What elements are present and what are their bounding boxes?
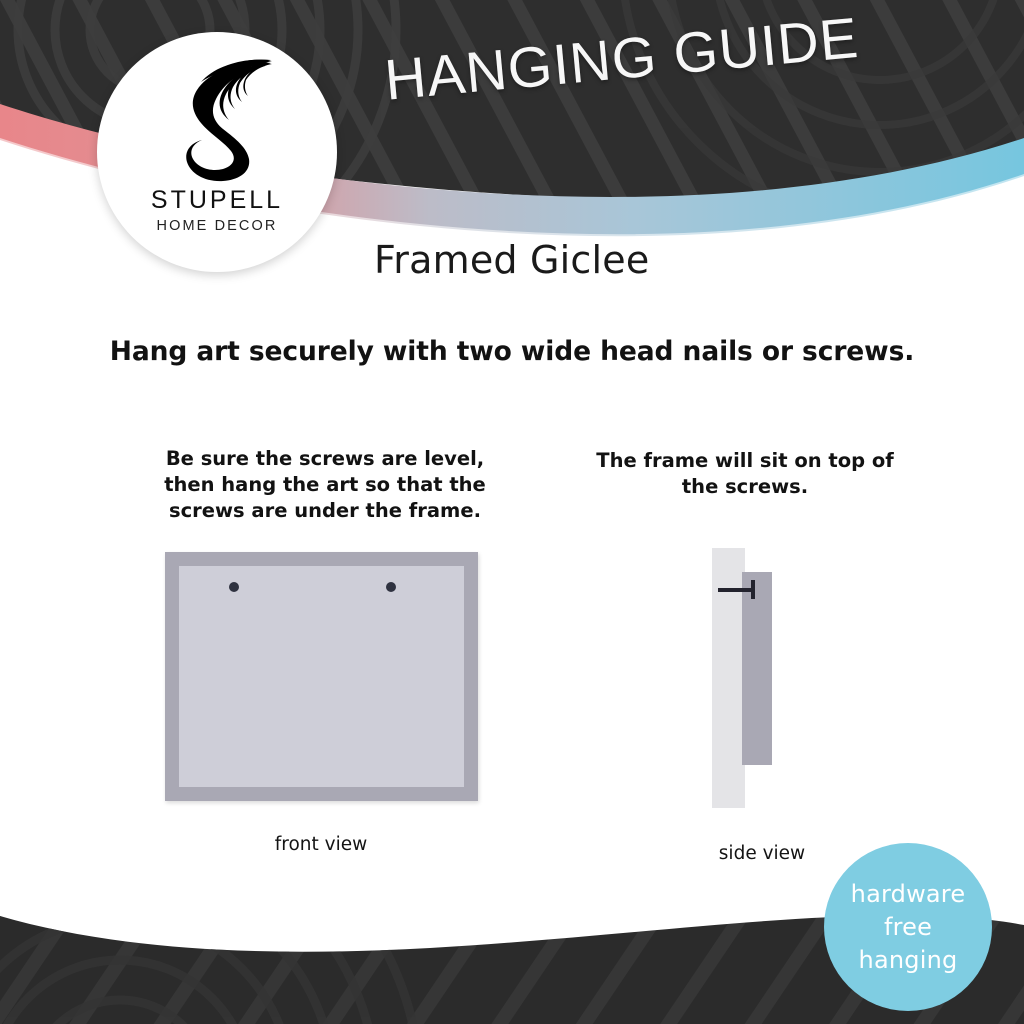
front-view-caption: Be sure the screws are level, then hang …	[140, 446, 510, 524]
screw-dot-right-icon	[386, 582, 396, 592]
brand-logo-badge: STUPELL HOME DECOR	[97, 32, 337, 272]
badge-line-3: hanging	[859, 944, 958, 977]
hardware-free-hanging-badge: hardware free hanging	[824, 843, 992, 1011]
side-view-caption: The frame will sit on top of the screws.	[590, 448, 900, 500]
page-title: HANGING GUIDE	[382, 5, 861, 114]
stupell-swirl-logo-icon	[161, 58, 273, 182]
hanging-guide-infographic: STUPELL HOME DECOR HANGING GUIDE Framed …	[0, 0, 1024, 1024]
side-view-screw-shaft-icon	[718, 588, 754, 592]
screw-dot-left-icon	[229, 582, 239, 592]
side-view-screw-head-icon	[751, 580, 755, 599]
badge-line-1: hardware	[851, 878, 966, 911]
front-view-mat	[179, 566, 464, 787]
brand-name: STUPELL	[151, 186, 283, 215]
side-view-frame	[742, 572, 772, 765]
side-view-label: side view	[637, 843, 887, 864]
badge-line-2: free	[884, 911, 932, 944]
front-view-diagram	[165, 552, 478, 801]
front-view-label: front view	[196, 834, 446, 855]
brand-tagline: HOME DECOR	[157, 218, 278, 234]
main-instruction: Hang art securely with two wide head nai…	[0, 336, 1024, 367]
side-view-wall	[712, 548, 745, 808]
product-subtitle: Framed Giclee	[374, 238, 649, 282]
